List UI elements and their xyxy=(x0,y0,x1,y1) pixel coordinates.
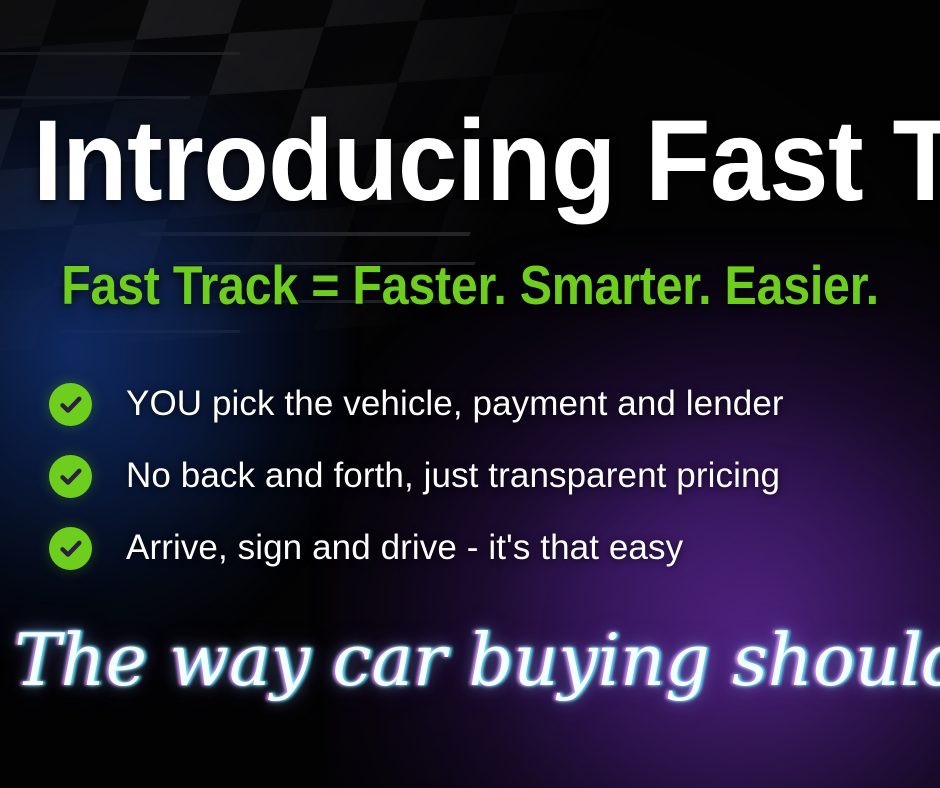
check-circle-icon xyxy=(49,455,92,498)
list-item-label: YOU pick the vehicle, payment and lender xyxy=(126,385,784,424)
promo-graphic: Introducing Fast Track Fast Track = Fast… xyxy=(0,0,940,788)
check-circle-icon xyxy=(49,383,92,426)
list-item-label: Arrive, sign and drive - it's that easy xyxy=(126,529,683,568)
page-title: Introducing Fast Track xyxy=(33,104,907,219)
check-circle-icon xyxy=(49,527,92,570)
benefit-list: YOU pick the vehicle, payment and lender… xyxy=(49,377,909,593)
tagline-text: The way car buying should be. xyxy=(14,612,926,709)
list-item: No back and forth, just transparent pric… xyxy=(49,449,909,504)
list-item-label: No back and forth, just transparent pric… xyxy=(126,457,780,496)
list-item: YOU pick the vehicle, payment and lender xyxy=(49,377,909,432)
tagline: The way car buying should be. The way ca… xyxy=(0,612,940,722)
subtitle: Fast Track = Faster. Smarter. Easier. xyxy=(56,258,883,313)
list-item: Arrive, sign and drive - it's that easy xyxy=(49,521,909,576)
